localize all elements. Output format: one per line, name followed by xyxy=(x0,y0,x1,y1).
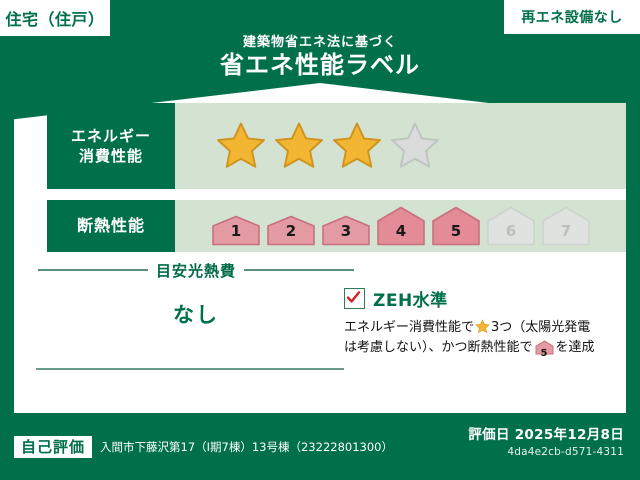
utility-cost-divider xyxy=(36,368,344,370)
star-icon xyxy=(475,319,490,334)
energy-consumption-label-line1: エネルギー xyxy=(71,126,151,146)
star-icon-filled xyxy=(273,120,325,172)
heading-rule-right xyxy=(244,269,354,271)
property-address: 入間市下藤沢第17（Ⅰ期7棟）13号棟（23222801300） xyxy=(100,439,393,455)
energy-consumption-label-line2: 消費性能 xyxy=(79,146,143,166)
insulation-grade-3: 3 xyxy=(321,215,371,246)
star-icon-filled xyxy=(331,120,383,172)
zeh-checkbox[interactable] xyxy=(344,288,365,309)
renewable-equipment-tag-label: 再エネ設備なし xyxy=(521,7,623,27)
building-type-tag-label: 住宅（住戸） xyxy=(5,6,104,30)
star-icon-empty xyxy=(389,120,441,172)
title-subtitle: 建築物省エネ法に基づく xyxy=(0,36,640,49)
zeh-desc-part1: エネルギー消費性能で xyxy=(344,320,474,335)
insulation-grade-number: 4 xyxy=(376,222,426,240)
insulation-grade-number: 6 xyxy=(486,222,536,240)
insulation-grade-scale: 1234567 xyxy=(175,206,591,246)
check-icon xyxy=(346,290,361,305)
insulation-grade-number: 7 xyxy=(541,222,591,240)
energy-consumption-label: エネルギー 消費性能 xyxy=(47,103,175,189)
zeh-heading: ZEH水準 xyxy=(344,286,614,311)
zeh-desc-part3: を達成 xyxy=(556,340,595,355)
insulation-grade-1: 1 xyxy=(211,215,261,246)
evaluation-footer: 自己評価 入間市下藤沢第17（Ⅰ期7棟）13号棟（23222801300） xyxy=(14,436,393,459)
insulation-grade-number: 2 xyxy=(266,222,316,240)
label-title-block: 建築物省エネ法に基づく 省エネ性能ラベル xyxy=(0,36,640,94)
energy-performance-label: 住宅（住戸） 再エネ設備なし 建築物省エネ法に基づく 省エネ性能ラベル エネルギ… xyxy=(0,0,640,480)
insulation-performance-label: 断熱性能 xyxy=(47,200,175,252)
insulation-grade-number: 1 xyxy=(211,222,261,240)
page-title: 省エネ性能ラベル xyxy=(0,53,640,77)
insulation-grade-inline-icon: 5 xyxy=(535,340,554,362)
utility-cost-value: なし xyxy=(38,299,354,329)
utility-cost-heading: 目安光熱費 xyxy=(38,261,354,279)
evaluation-date: 評価日 2025年12月8日 xyxy=(468,423,624,443)
star-rating xyxy=(175,120,441,172)
insulation-grade-4: 4 xyxy=(376,206,426,246)
insulation-grade-inline-number: 5 xyxy=(535,346,554,362)
insulation-grade-7: 7 xyxy=(541,206,591,246)
zeh-desc-part2: は考慮しない）、かつ断熱性能で xyxy=(344,340,533,355)
building-type-tag: 住宅（住戸） xyxy=(0,0,110,36)
insulation-performance-label-text: 断熱性能 xyxy=(77,215,145,237)
star-icon-filled xyxy=(215,120,267,172)
evaluation-type-badge: 自己評価 xyxy=(14,436,92,459)
insulation-grade-5: 5 xyxy=(431,206,481,246)
renewable-equipment-tag: 再エネ設備なし xyxy=(504,0,640,34)
insulation-grade-number: 3 xyxy=(321,222,371,240)
insulation-performance-row: 断熱性能 1234567 xyxy=(47,200,626,252)
zeh-desc-star-count: 3つ（太陽光発電 xyxy=(491,320,590,335)
label-identifier: 4da4e2cb-d571-4311 xyxy=(468,446,624,458)
insulation-grade-number: 5 xyxy=(431,222,481,240)
zeh-standard-block: ZEH水準 エネルギー消費性能で3つ（太陽光発電 は考慮しない）、かつ断熱性能で… xyxy=(344,286,614,362)
energy-consumption-body xyxy=(175,103,626,189)
insulation-grade-2: 2 xyxy=(266,215,316,246)
zeh-description: エネルギー消費性能で3つ（太陽光発電 は考慮しない）、かつ断熱性能で5を達成 xyxy=(344,318,614,362)
zeh-title: ZEH水準 xyxy=(373,286,448,311)
utility-cost-heading-label: 目安光熱費 xyxy=(156,260,236,281)
insulation-grade-6: 6 xyxy=(486,206,536,246)
label-card-content: エネルギー 消費性能 断熱性能 1234567 目安光熱費 なし xyxy=(14,83,626,413)
energy-consumption-row: エネルギー 消費性能 xyxy=(47,103,626,189)
heading-rule-left xyxy=(38,269,148,271)
evaluation-date-block: 評価日 2025年12月8日 4da4e2cb-d571-4311 xyxy=(468,423,624,458)
insulation-performance-body: 1234567 xyxy=(175,200,626,252)
